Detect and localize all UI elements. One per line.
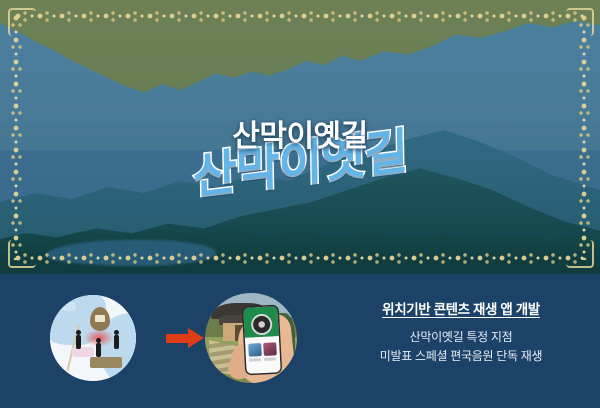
map-person-icon <box>114 335 119 349</box>
panel-line-1: 산막이옛길 특정 지점 <box>330 328 592 347</box>
album-thumbnail <box>248 343 262 357</box>
map-place-label-bottom <box>72 347 94 357</box>
map-person-icon <box>96 343 101 357</box>
arrow-right-icon <box>166 328 206 348</box>
album-caption <box>264 357 276 361</box>
album-caption <box>249 358 261 362</box>
map-pin-icon <box>90 307 110 331</box>
map-place-label-top <box>56 302 76 311</box>
panel-text-block: 위치기반 콘텐츠 재생 앱 개발 산막이옛길 특정 지점 미발표 스페셜 편국음… <box>330 302 592 366</box>
map-spot-label <box>90 357 122 368</box>
hero-title: 산막이옛길 <box>232 111 368 155</box>
panel-line-2: 미발표 스페셜 편국음원 단독 재생 <box>330 347 592 366</box>
panel-heading: 위치기반 콘텐츠 재생 앱 개발 <box>330 302 592 319</box>
album-thumbnail <box>263 342 277 356</box>
smartphone-device <box>243 306 280 374</box>
map-person-icon <box>76 335 81 349</box>
location-map-icon <box>50 295 136 381</box>
phone-music-app-icon <box>205 293 297 383</box>
vinyl-record-icon <box>253 316 271 334</box>
poster-root: 산막이옛길 산막이옛길 <box>0 0 600 408</box>
arrow-shaft <box>166 334 190 343</box>
app-header-bar <box>243 306 279 338</box>
app-content-area <box>245 336 281 374</box>
arrow-head <box>188 328 204 348</box>
